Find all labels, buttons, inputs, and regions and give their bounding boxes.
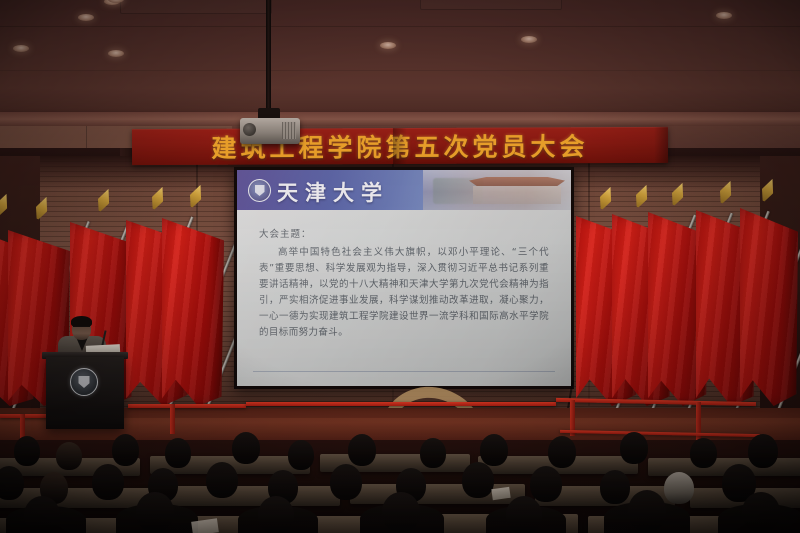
university-name: 天津大学 <box>277 177 389 207</box>
ceiling-seam <box>0 26 800 27</box>
slide-header: 天津大学 <box>237 170 571 210</box>
banner-fold-left <box>393 128 407 164</box>
audience-booklet <box>191 518 219 533</box>
stage-railing <box>246 402 556 406</box>
seat-row <box>0 488 154 508</box>
campus-building-roof <box>469 177 565 186</box>
stage-railing <box>128 404 246 408</box>
audience-head <box>0 466 24 500</box>
audience-head <box>420 438 446 468</box>
ceiling-recess-panel <box>420 0 562 10</box>
event-banner: 建筑工程学院第五次党员大会 <box>132 127 668 165</box>
audience-head <box>348 434 376 466</box>
audience-head <box>690 438 717 468</box>
audience-head <box>165 438 191 468</box>
audience-head <box>462 462 494 498</box>
audience-head <box>620 432 648 464</box>
projector-mount-pole <box>266 0 271 112</box>
ceiling-downlight <box>78 14 94 21</box>
audience-head <box>382 492 420 532</box>
audience-head <box>530 466 562 502</box>
ceiling-downlight <box>380 42 396 49</box>
slide-paragraph: 高举中国特色社会主义伟大旗帜，以邓小平理论、“三个代表”重要思想、科学发展观为指… <box>259 245 549 341</box>
audience-head <box>258 496 294 533</box>
header-campus-photo <box>423 170 571 210</box>
speaker-glasses-icon <box>73 326 90 331</box>
seat-row <box>160 486 340 506</box>
audience-area <box>0 440 800 533</box>
screen-surface: 天津大学 大会主题： 高举中国特色社会主义伟大旗帜，以邓小平理论、“三个代表”重… <box>237 170 571 386</box>
university-crest-emblem-icon <box>70 368 98 396</box>
projector-lens-icon <box>243 123 256 136</box>
audience-head <box>628 490 666 532</box>
audience-head <box>206 462 238 498</box>
audience-head <box>288 440 314 470</box>
tianjin-university-crest-icon <box>248 179 271 202</box>
ceiling-seam <box>0 70 800 71</box>
audience-head <box>14 436 40 466</box>
ceiling-downlight <box>108 50 124 57</box>
audience-head <box>330 464 362 500</box>
audience-head <box>748 434 778 468</box>
audience-head <box>112 434 139 466</box>
audience-head <box>548 436 576 468</box>
audience-head <box>56 442 82 470</box>
audience-head <box>480 434 508 466</box>
slide-footer-rule <box>253 371 555 372</box>
audience-head <box>664 472 694 504</box>
ceiling-recess-panel <box>120 0 272 14</box>
audience-head <box>92 464 124 500</box>
ceiling-downlight <box>716 12 732 19</box>
campus-building-body <box>473 186 561 204</box>
flag-cloth <box>740 208 798 406</box>
auditorium-scene: 建筑工程学院第五次党员大会 <box>0 0 800 533</box>
railing-post <box>170 404 175 434</box>
slide-topic-label: 大会主题： <box>259 226 549 240</box>
projection-screen: 天津大学 大会主题： 高举中国特色社会主义伟大旗帜，以邓小平理论、“三个代表”重… <box>234 167 574 389</box>
audience-head <box>506 496 542 533</box>
audience-head <box>742 492 780 532</box>
slide-body: 大会主题： 高举中国特色社会主义伟大旗帜，以邓小平理论、“三个代表”重要思想、科… <box>237 210 571 341</box>
audience-head <box>136 492 174 532</box>
audience-head <box>24 496 60 533</box>
audience-head <box>600 470 630 504</box>
banner-fold-right <box>654 127 668 163</box>
ceiling-downlight <box>13 45 29 52</box>
ceiling-downlight <box>521 36 537 43</box>
projector-vent <box>282 122 296 139</box>
audience-head <box>232 432 260 464</box>
flag-cloth <box>162 218 224 406</box>
ceiling <box>0 0 800 118</box>
